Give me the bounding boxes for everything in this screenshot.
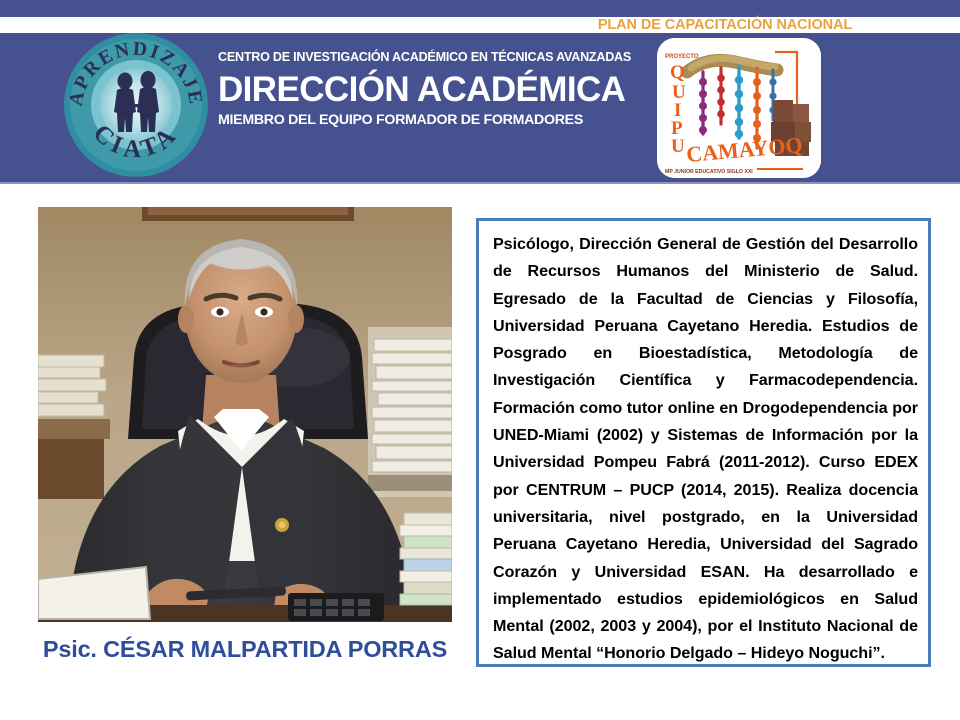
ciata-logo: APRENDIZAJE CIATA: [62, 31, 210, 179]
bio-text: Psicólogo, Dirección General de Gestión …: [493, 231, 918, 668]
plan-title: PLAN DE CAPACITACIÓN NACIONAL: [560, 16, 890, 34]
svg-text:Q: Q: [670, 62, 685, 83]
person-photo: [38, 207, 452, 622]
bio-panel: Psicólogo, Dirección General de Gestión …: [476, 218, 931, 667]
person-name-caption: Psic. CÉSAR MALPARTIDA PORRAS: [38, 636, 452, 663]
person-photo-svg: [38, 207, 452, 622]
svg-text:U: U: [671, 136, 685, 157]
header-top-strip: [0, 0, 960, 17]
ciata-logo-svg: APRENDIZAJE CIATA: [62, 31, 210, 179]
quipu-proyecto-label: PROYECTO: [665, 54, 699, 60]
quipu-logo-svg: Q U I P U PROYECTO CAMAYOQ MP JUNIOR EDU…: [657, 38, 821, 178]
header-subtitle-bottom: MIEMBRO DEL EQUIPO FORMADOR DE FORMADORE…: [218, 112, 638, 128]
header-main-title: DIRECCIÓN ACADÉMICA: [218, 70, 638, 110]
quipu-camayoq-logo: Q U I P U PROYECTO CAMAYOQ MP JUNIOR EDU…: [657, 38, 821, 178]
quipu-footer-text: MP JUNIOR EDUCATIVO SIGLO XXI: [665, 169, 753, 175]
header-subtitle-top: CENTRO DE INVESTIGACIÓN ACADÉMICO EN TÉC…: [218, 50, 638, 64]
header-text-block: CENTRO DE INVESTIGACIÓN ACADÉMICO EN TÉC…: [218, 50, 638, 128]
